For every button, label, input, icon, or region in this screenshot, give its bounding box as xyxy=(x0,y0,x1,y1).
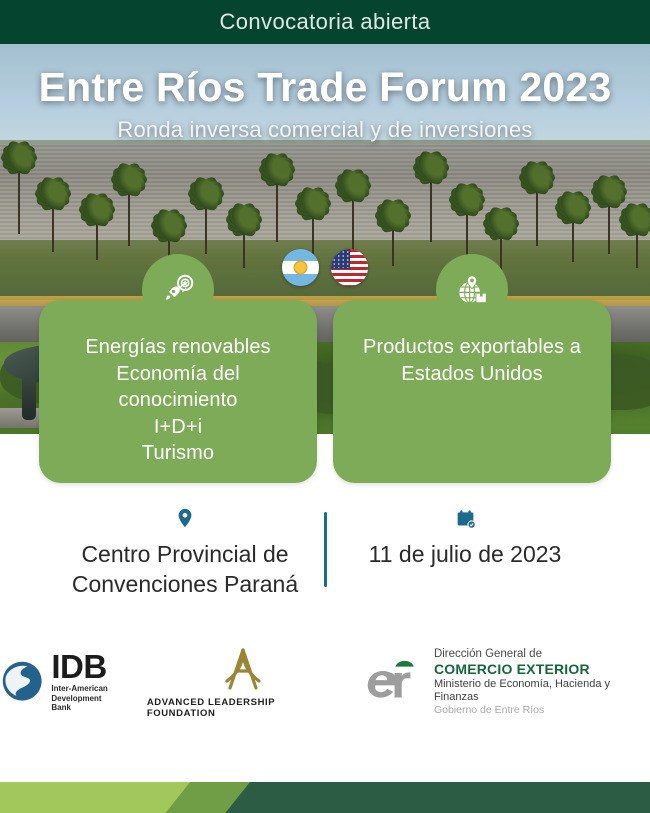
sponsor-logos: IDB Inter-American Development Bank ADVA… xyxy=(0,645,650,719)
er-monogram xyxy=(366,657,428,707)
palm-tree xyxy=(52,192,54,252)
card-line: Energías renovables xyxy=(57,334,299,361)
advanced-leadership-foundation-logo: ADVANCED LEADERSHIP FOUNDATION xyxy=(147,645,340,719)
er-line-3: Ministerio de Economía, Hacienda y Finan… xyxy=(434,678,650,704)
sun-of-may-icon xyxy=(295,262,306,273)
card-line: Economía del conocimiento xyxy=(57,361,299,414)
banner-text: Convocatoria abierta xyxy=(219,9,430,35)
idb-wordmark: IDB xyxy=(51,652,120,682)
page-title: Entre Ríos Trade Forum 2023 xyxy=(0,66,650,109)
idb-globe-mark xyxy=(0,659,44,705)
globe-export-icon xyxy=(436,254,508,326)
entre-rios-comercio-exterior-logo: Dirección General de COMERCIO EXTERIOR M… xyxy=(366,648,650,716)
hero-titles: Entre Ríos Trade Forum 2023 Ronda invers… xyxy=(0,66,650,143)
page-subtitle: Ronda inversa comercial y de inversiones xyxy=(0,117,650,143)
idb-subtitle: Inter-American Development Bank xyxy=(51,684,120,712)
location-pin-icon xyxy=(174,502,196,534)
er-line-1: Dirección General de xyxy=(434,648,650,662)
er-line-2: COMERCIO EXTERIOR xyxy=(434,661,650,678)
idb-subtitle-line-2: Development Bank xyxy=(51,694,120,713)
palm-tree xyxy=(608,190,610,254)
top-banner: Convocatoria abierta xyxy=(0,0,650,44)
card-line: I+D+i xyxy=(57,414,299,441)
date-text: 11 de julio de 2023 xyxy=(369,540,562,570)
alf-wordmark: ADVANCED LEADERSHIP FOUNDATION xyxy=(147,697,340,719)
topic-cards: Energías renovables Economía del conocim… xyxy=(0,300,650,483)
bottom-bar xyxy=(0,782,650,813)
info-divider xyxy=(324,512,327,587)
topic-card-sectors: Energías renovables Economía del conocim… xyxy=(39,300,317,483)
card-line: Productos exportables a xyxy=(351,334,593,361)
alf-a-monogram xyxy=(217,645,269,693)
card-line: Estados Unidos xyxy=(351,361,593,388)
venue-text: Centro Provincial de Convenciones Paraná xyxy=(72,540,298,600)
us-canton xyxy=(331,249,350,269)
event-info-row: Centro Provincial de Convenciones Paraná… xyxy=(0,498,650,600)
card-line: Turismo xyxy=(57,440,299,467)
topic-card-exports: Productos exportables a Estados Unidos xyxy=(333,300,611,483)
flag-row xyxy=(0,249,650,286)
idb-logo: IDB Inter-American Development Bank xyxy=(0,652,121,713)
united-states-flag xyxy=(331,249,368,286)
rocket-innovation-icon xyxy=(142,254,214,326)
calendar-icon xyxy=(455,502,476,534)
argentina-flag xyxy=(282,249,319,286)
er-text-block: Dirección General de COMERCIO EXTERIOR M… xyxy=(434,648,650,716)
date-block: 11 de julio de 2023 xyxy=(333,498,598,570)
idb-text: IDB Inter-American Development Bank xyxy=(51,652,120,713)
venue-line-2: Convenciones Paraná xyxy=(72,570,298,600)
er-line-4: Gobierno de Entre Ríos xyxy=(434,704,650,716)
venue-block: Centro Provincial de Convenciones Paraná xyxy=(53,498,318,600)
idb-subtitle-line-1: Inter-American xyxy=(51,684,120,693)
palm-tree xyxy=(205,192,207,254)
venue-line-1: Centro Provincial de xyxy=(72,540,298,570)
